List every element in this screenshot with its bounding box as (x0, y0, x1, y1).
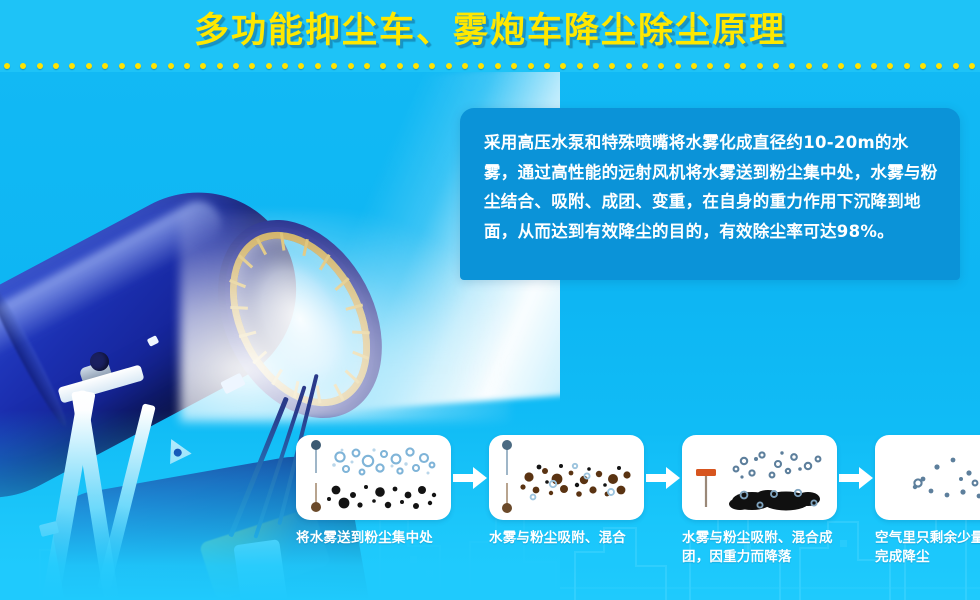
step-2-label: 水雾与粉尘吸附、混合 (489, 529, 657, 548)
divider-dot (626, 63, 632, 69)
divider-dot (577, 63, 583, 69)
divider-dot (446, 63, 452, 69)
step-3-illustration (682, 435, 837, 520)
divider-dot (315, 63, 321, 69)
divider-dot (217, 63, 223, 69)
process-steps: 将水雾送到粉尘集中处 (0, 435, 980, 600)
divider-dot (740, 63, 746, 69)
divider-dot (969, 63, 975, 69)
divider-dot (691, 63, 697, 69)
description-text: 采用高压水泵和特殊喷嘴将水雾化成直径约10-20m的水雾，通过高性能的远射风机将… (484, 128, 938, 246)
divider-dot (266, 63, 272, 69)
step-1-illustration (296, 435, 451, 520)
arrow-1 (451, 435, 489, 520)
divider-dot (838, 63, 844, 69)
step-4[interactable]: 空气里只剩余少量的水雾，完成降尘 (875, 435, 980, 567)
gauge-post (502, 440, 512, 513)
divider-dot (757, 63, 763, 69)
divider-dot (168, 63, 174, 69)
step-2-illustration (489, 435, 644, 520)
arrow-3 (837, 435, 875, 520)
divider-dot (119, 63, 125, 69)
step-4-illustration (875, 435, 980, 520)
divider-dot (495, 63, 501, 69)
divider-dot (642, 63, 648, 69)
divider-dot (478, 63, 484, 69)
divider-dot (135, 63, 141, 69)
settled-clumps (729, 490, 820, 511)
divider-dot (855, 63, 861, 69)
divider-dot (789, 63, 795, 69)
divider-dot (936, 63, 942, 69)
divider-dot (233, 63, 239, 69)
divider-dot (544, 63, 550, 69)
divider-dot (462, 63, 468, 69)
divider-dot (560, 63, 566, 69)
arrow-2 (644, 435, 682, 520)
gauge-post (311, 440, 321, 512)
divider-dot (822, 63, 828, 69)
divider-dot (511, 63, 517, 69)
divider-dot (249, 63, 255, 69)
divider-dot (37, 63, 43, 69)
divider-dot (953, 63, 959, 69)
divider-dot (53, 63, 59, 69)
arrow-right-icon (646, 467, 680, 489)
divider-dot (920, 63, 926, 69)
divider-dot (675, 63, 681, 69)
page-title: 多功能抑尘车、雾炮车降尘除尘原理 (0, 8, 980, 54)
divider-dot (773, 63, 779, 69)
step-4-label: 空气里只剩余少量的水雾，完成降尘 (875, 529, 980, 567)
divider-dot (413, 63, 419, 69)
step-3-label: 水雾与粉尘吸附、混合成团，因重力而降落 (682, 529, 850, 567)
divider-dot (364, 63, 370, 69)
dotted-divider (0, 62, 980, 70)
divider-dot (20, 63, 26, 69)
step-3[interactable]: 水雾与粉尘吸附、混合成团，因重力而降落 (682, 435, 837, 567)
divider-dot (593, 63, 599, 69)
arrow-right-icon (839, 467, 873, 489)
divider-dot (69, 63, 75, 69)
poster-stage: 多功能抑尘车、雾炮车降尘除尘原理 采用高压水泵和特殊喷嘴将水雾化成直径约10-2… (0, 0, 980, 600)
divider-dot (528, 63, 534, 69)
marker-post-icon (696, 469, 716, 507)
divider-dot (298, 63, 304, 69)
divider-dot (724, 63, 730, 69)
divider-dot (397, 63, 403, 69)
divider-dot (151, 63, 157, 69)
step-2[interactable]: 水雾与粉尘吸附、混合 (489, 435, 644, 548)
divider-dot (282, 63, 288, 69)
divider-dot (348, 63, 354, 69)
divider-dot (887, 63, 893, 69)
divider-dot (102, 63, 108, 69)
divider-dot (609, 63, 615, 69)
arrow-right-icon (453, 467, 487, 489)
step-1-label: 将水雾送到粉尘集中处 (296, 529, 464, 548)
divider-dot (200, 63, 206, 69)
divider-dot (331, 63, 337, 69)
step-1[interactable]: 将水雾送到粉尘集中处 (296, 435, 451, 548)
header-bar: 多功能抑尘车、雾炮车降尘除尘原理 (0, 0, 980, 72)
divider-dot (429, 63, 435, 69)
divider-dot (184, 63, 190, 69)
divider-dot (658, 63, 664, 69)
divider-dot (4, 63, 10, 69)
divider-dot (871, 63, 877, 69)
divider-dot (707, 63, 713, 69)
description-panel: 采用高压水泵和特殊喷嘴将水雾化成直径约10-20m的水雾，通过高性能的远射风机将… (460, 108, 960, 280)
divider-dot (380, 63, 386, 69)
divider-dot (806, 63, 812, 69)
divider-dot (904, 63, 910, 69)
divider-dot (86, 63, 92, 69)
